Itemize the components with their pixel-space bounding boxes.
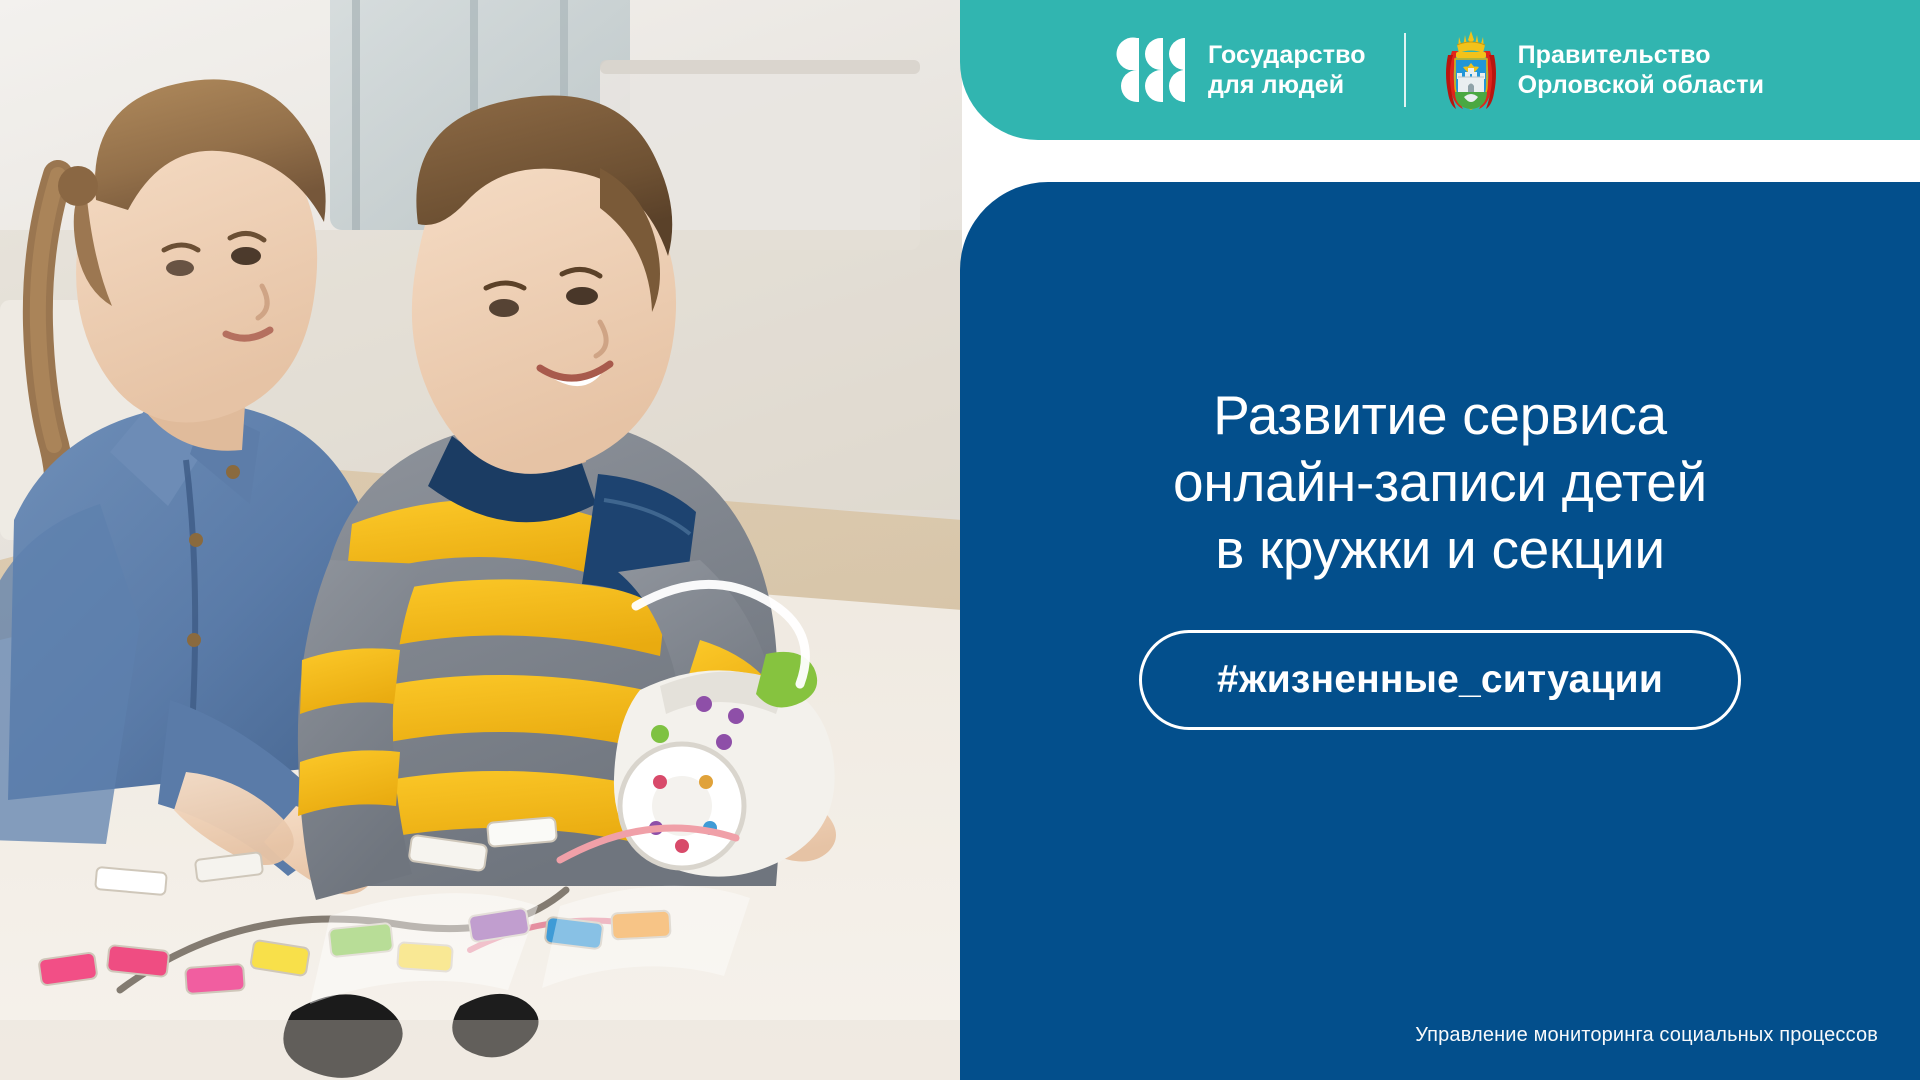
three-sails-logo-icon [1116, 36, 1186, 104]
header-lockups: Государство для людей [1116, 29, 1764, 111]
headline-line-1: Развитие сервиса [1000, 382, 1880, 449]
header-panel: Государство для людей [960, 0, 1920, 140]
poster-canvas: Государство для людей [0, 0, 1920, 1080]
government-line-1: Правительство [1518, 40, 1764, 70]
page-title: Развитие сервиса онлайн-записи детей в к… [960, 382, 1920, 583]
hashtag-button[interactable]: #жизненные_ситуации [1139, 630, 1741, 730]
brand-line-1: Государство [1208, 40, 1366, 70]
headline-line-3: в кружки и секции [1000, 516, 1880, 583]
brand-lockup: Государство для людей [1116, 36, 1366, 104]
photo-illustration [0, 0, 962, 1080]
oryol-oblast-coat-of-arms-icon [1444, 29, 1498, 111]
headline-line-2: онлайн-записи детей [1000, 449, 1880, 516]
vertical-divider-icon [1404, 33, 1406, 107]
main-panel: Развитие сервиса онлайн-записи детей в к… [960, 182, 1920, 1080]
department-credit: Управление мониторинга социальных процес… [1415, 1024, 1878, 1047]
government-lockup: Правительство Орловской области [1444, 29, 1764, 111]
government-text: Правительство Орловской области [1518, 40, 1764, 100]
brand-text: Государство для людей [1208, 40, 1366, 100]
government-line-2: Орловской области [1518, 70, 1764, 100]
children-building-robot-photo [0, 0, 962, 1080]
brand-line-2: для людей [1208, 70, 1366, 100]
